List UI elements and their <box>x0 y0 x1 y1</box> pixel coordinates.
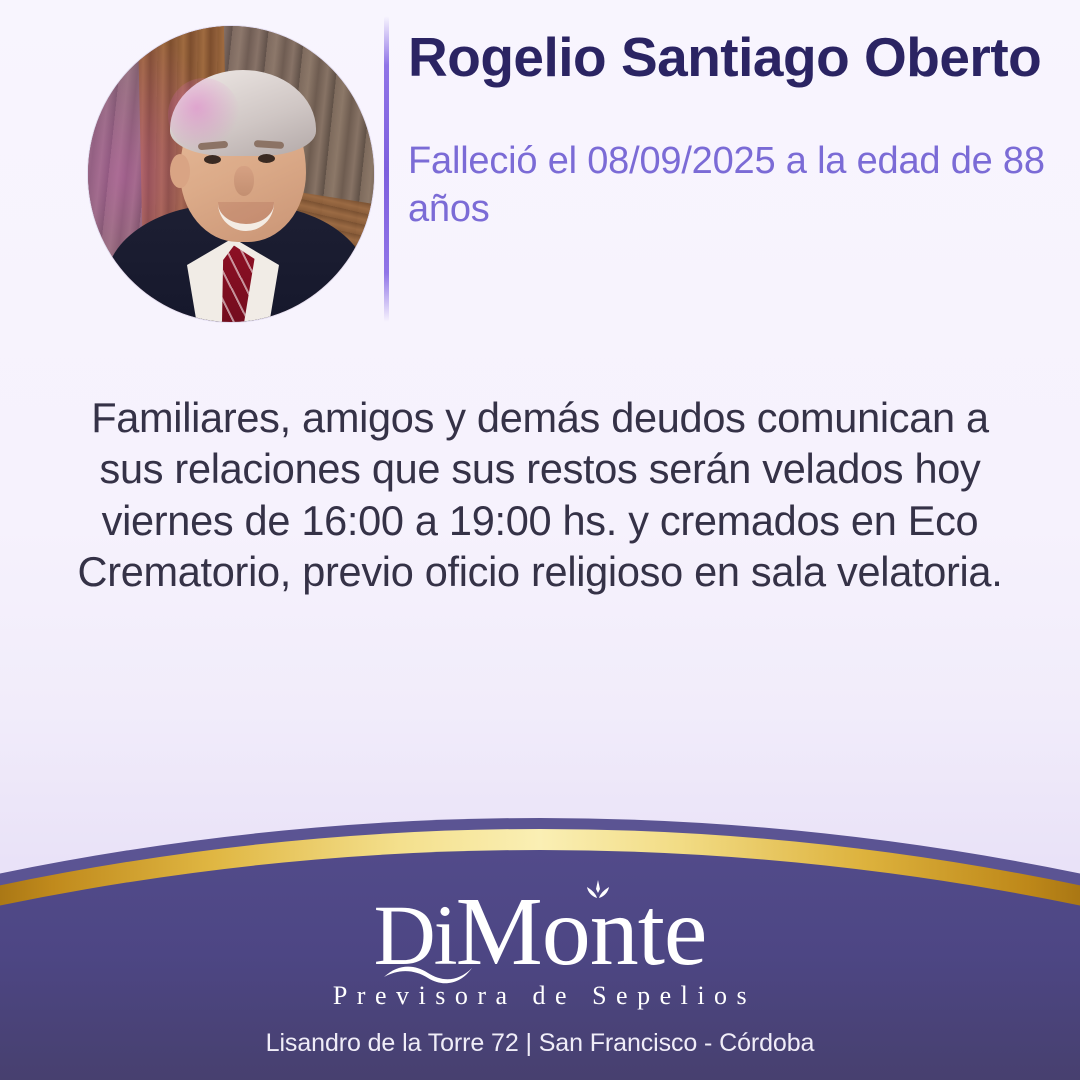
portrait-eye-left <box>204 155 221 164</box>
portrait-hair-tint <box>168 78 240 152</box>
portrait-image <box>88 26 374 322</box>
portrait-nose <box>234 166 254 196</box>
deceased-name: Rogelio Santiago Oberto <box>408 28 1058 86</box>
logo-fleur-ornament-icon <box>581 877 615 911</box>
portrait-eye-right <box>258 154 275 163</box>
logo-wordmark: DiMonte <box>374 883 707 981</box>
footer-address: Lisandro de la Torre 72 | San Francisco … <box>266 1029 815 1058</box>
announcement-text: Familiares, amigos y demás deudos comuni… <box>60 392 1020 597</box>
portrait-photo <box>88 26 374 322</box>
header-text-block: Rogelio Santiago Oberto Falleció el 08/0… <box>408 28 1058 233</box>
card-footer: DiMonte Previsora de Sepelios Lisandro d… <box>0 760 1080 1080</box>
vertical-divider <box>384 16 389 322</box>
memorial-card: Rogelio Santiago Oberto Falleció el 08/0… <box>0 0 1080 1080</box>
portrait-ear <box>170 154 190 188</box>
brand-logo[interactable]: DiMonte Previsora de Sepelios <box>324 883 756 1011</box>
card-header: Rogelio Santiago Oberto Falleció el 08/0… <box>0 0 1080 345</box>
logo-swash-icon <box>382 961 474 987</box>
footer-content: DiMonte Previsora de Sepelios Lisandro d… <box>0 760 1080 1080</box>
death-info: Falleció el 08/09/2025 a la edad de 88 a… <box>408 138 1058 233</box>
